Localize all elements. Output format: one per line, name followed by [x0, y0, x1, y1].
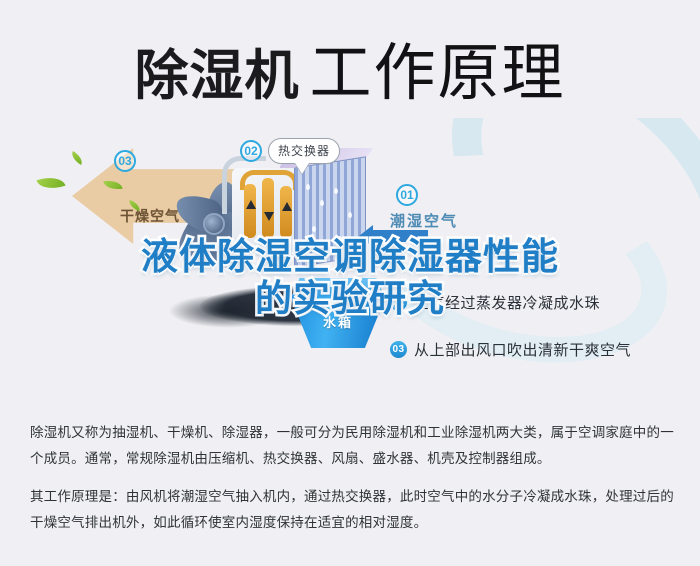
body-copy: 除湿机又称为抽湿机、干燥机、除湿器，一般可分为民用除湿机和工业除湿机两大类，属于… [30, 420, 674, 536]
body-paragraph-1: 除湿机又称为抽湿机、干燥机、除湿器，一般可分为民用除湿机和工业除湿机两大类，属于… [30, 420, 674, 473]
page-title: 除湿机工作原理 [0, 22, 700, 112]
heat-exchanger-callout: 热交换器 [268, 138, 340, 164]
note-text-03: 从上部出风口吹出清新干爽空气 [414, 339, 631, 360]
diagram-badge-01: 01 [396, 184, 418, 206]
body-paragraph-2: 其工作原理是：由风机将潮湿空气抽入机内，通过热交换器，此时空气中的水分子冷凝成水… [30, 484, 674, 537]
overlay-headline-line2: 的实验研究 [0, 278, 700, 320]
annotation-note-03: 03 从上部出风口吹出清新干爽空气 [390, 339, 631, 360]
page-title-secondary: 工作原理 [309, 39, 565, 108]
diagram-badge-03: 03 [114, 150, 136, 172]
note-badge-03: 03 [390, 341, 407, 358]
humid-air-label: 潮湿空气 [390, 210, 458, 231]
diagram-badge-02: 02 [240, 140, 262, 162]
overlay-headline: 液体除湿空调除湿器性能 的实验研究 [0, 236, 700, 320]
leaf-icon [69, 151, 85, 165]
overlay-headline-line1: 液体除湿空调除湿器性能 [0, 236, 700, 278]
page-title-primary: 除湿机 [134, 46, 299, 106]
poster-root: 除湿机工作原理 干燥空气 [0, 0, 700, 566]
leaf-icon [36, 172, 65, 193]
